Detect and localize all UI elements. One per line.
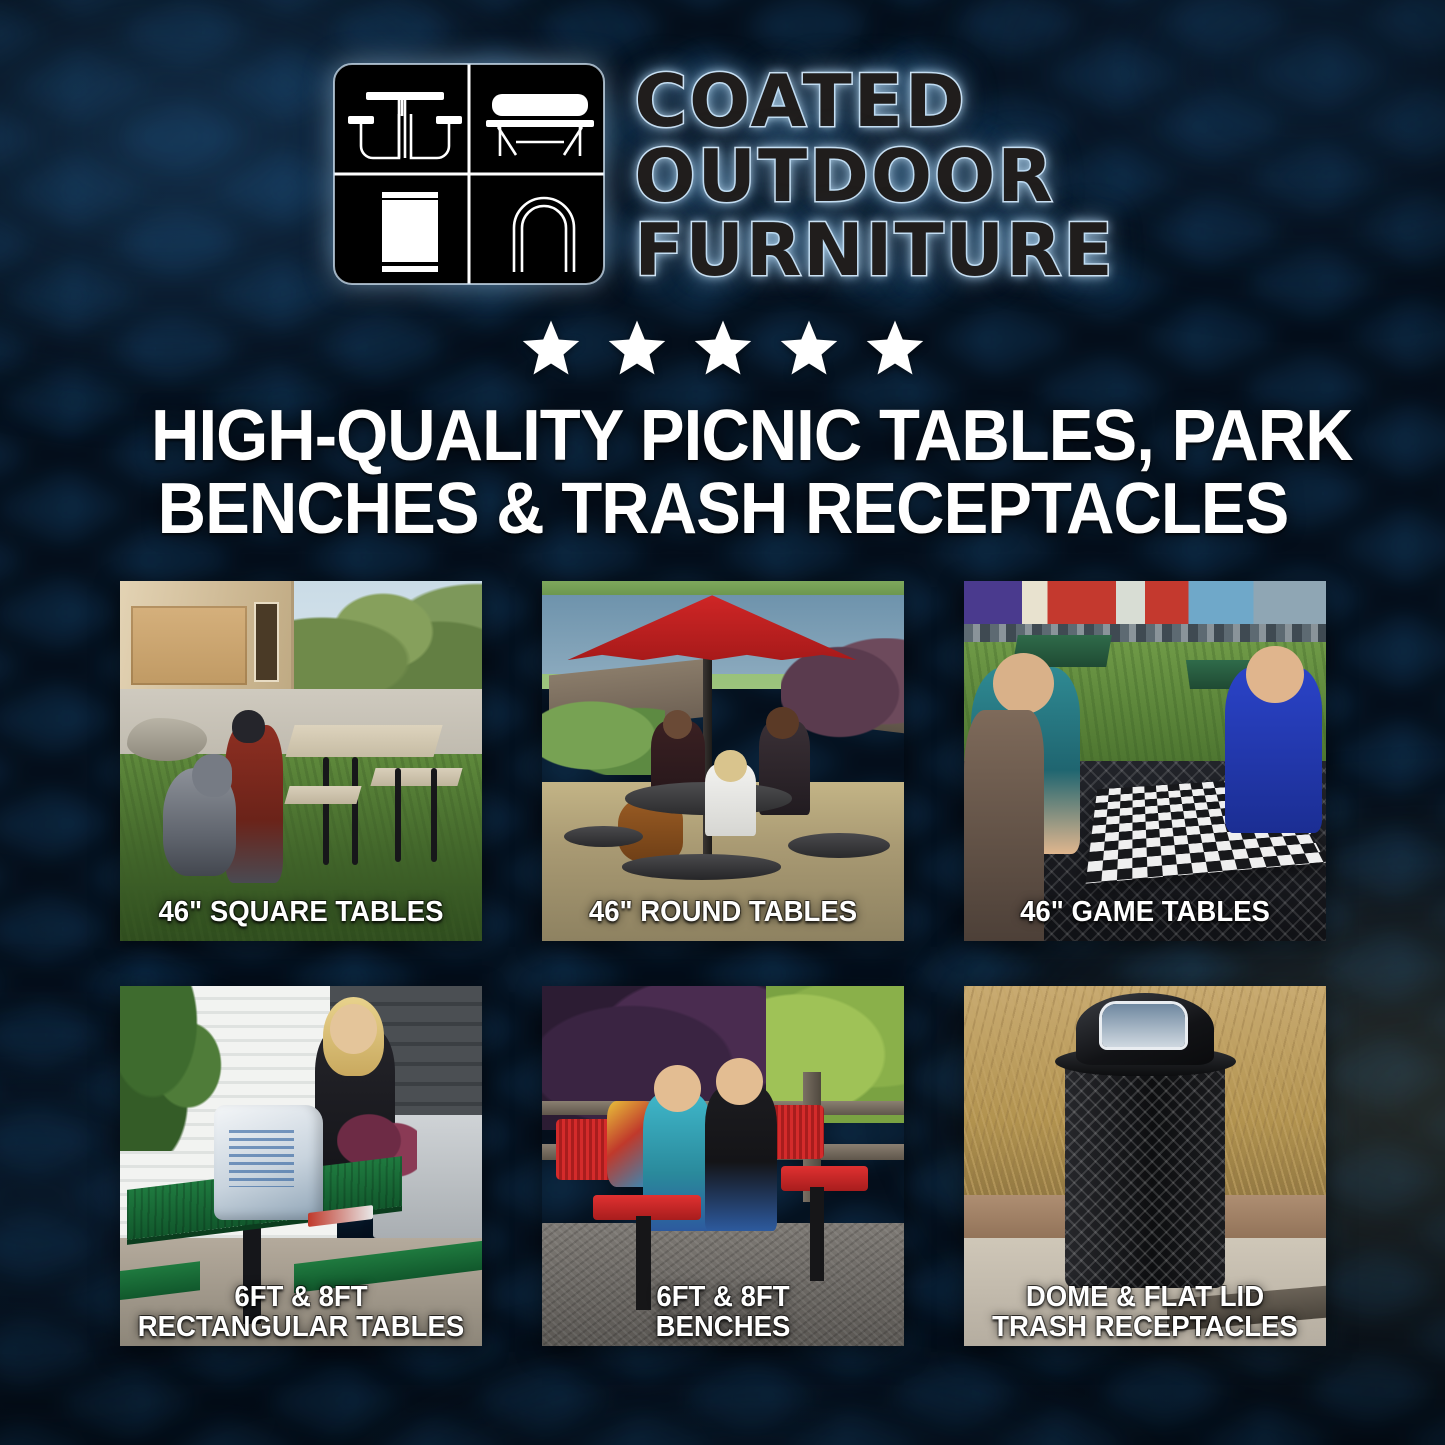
- star-icon: [692, 318, 754, 378]
- product-card-benches[interactable]: 6FT & 8FT BENCHES: [542, 986, 904, 1346]
- coated-outdoor-furniture-logo: [330, 60, 608, 288]
- product-photo-square-tables: [120, 581, 482, 941]
- product-card-game-tables[interactable]: 46" GAME TABLES: [964, 581, 1326, 941]
- product-caption: 46" ROUND TABLES: [545, 897, 900, 927]
- caption-line: 6FT & 8FT: [123, 1282, 478, 1312]
- star-rating: [520, 318, 926, 378]
- caption-line: BENCHES: [545, 1312, 900, 1342]
- product-grid: 46" SQUARE TABLES: [120, 581, 1325, 1346]
- product-card-square-tables[interactable]: 46" SQUARE TABLES: [120, 581, 482, 941]
- product-card-trash-receptacles[interactable]: DOME & FLAT LID TRASH RECEPTACLES: [964, 986, 1326, 1346]
- star-icon: [606, 318, 668, 378]
- headline-line-2: BENCHES & TRASH RECEPTACLES: [151, 473, 1295, 546]
- caption-line: TRASH RECEPTACLES: [967, 1312, 1322, 1342]
- product-card-rectangular-tables[interactable]: 6FT & 8FT RECTANGULAR TABLES: [120, 986, 482, 1346]
- promo-graphic: COATED OUTDOOR FURNITURE HIGH-QUALITY PI…: [0, 0, 1445, 1445]
- wordmark-line-3: FURNITURE: [634, 215, 1114, 286]
- wordmark-line-1: COATED: [634, 66, 1114, 137]
- product-photo-game-tables: [964, 581, 1326, 941]
- caption-line: DOME & FLAT LID: [967, 1282, 1322, 1312]
- product-caption: 46" SQUARE TABLES: [123, 897, 478, 927]
- caption-line: 46" SQUARE TABLES: [123, 897, 478, 927]
- product-caption: 46" GAME TABLES: [967, 897, 1322, 927]
- product-caption: 6FT & 8FT BENCHES: [545, 1282, 900, 1342]
- caption-line: 46" GAME TABLES: [967, 897, 1322, 927]
- product-caption: DOME & FLAT LID TRASH RECEPTACLES: [967, 1282, 1322, 1342]
- product-card-round-tables[interactable]: 46" ROUND TABLES: [542, 581, 904, 941]
- brand-wordmark: COATED OUTDOOR FURNITURE: [634, 62, 1114, 286]
- page-title: HIGH-QUALITY PICNIC TABLES, PARK BENCHES…: [151, 400, 1295, 547]
- caption-line: 6FT & 8FT: [545, 1282, 900, 1312]
- brand-logo[interactable]: COATED OUTDOOR FURNITURE: [330, 60, 1114, 288]
- star-icon: [778, 318, 840, 378]
- product-caption: 6FT & 8FT RECTANGULAR TABLES: [123, 1282, 478, 1342]
- caption-line: 46" ROUND TABLES: [545, 897, 900, 927]
- star-icon: [520, 318, 582, 378]
- product-photo-round-tables: [542, 581, 904, 941]
- headline-line-1: HIGH-QUALITY PICNIC TABLES, PARK: [151, 400, 1295, 473]
- star-icon: [864, 318, 926, 378]
- caption-line: RECTANGULAR TABLES: [123, 1312, 478, 1342]
- wordmark-line-2: OUTDOOR: [634, 141, 1114, 212]
